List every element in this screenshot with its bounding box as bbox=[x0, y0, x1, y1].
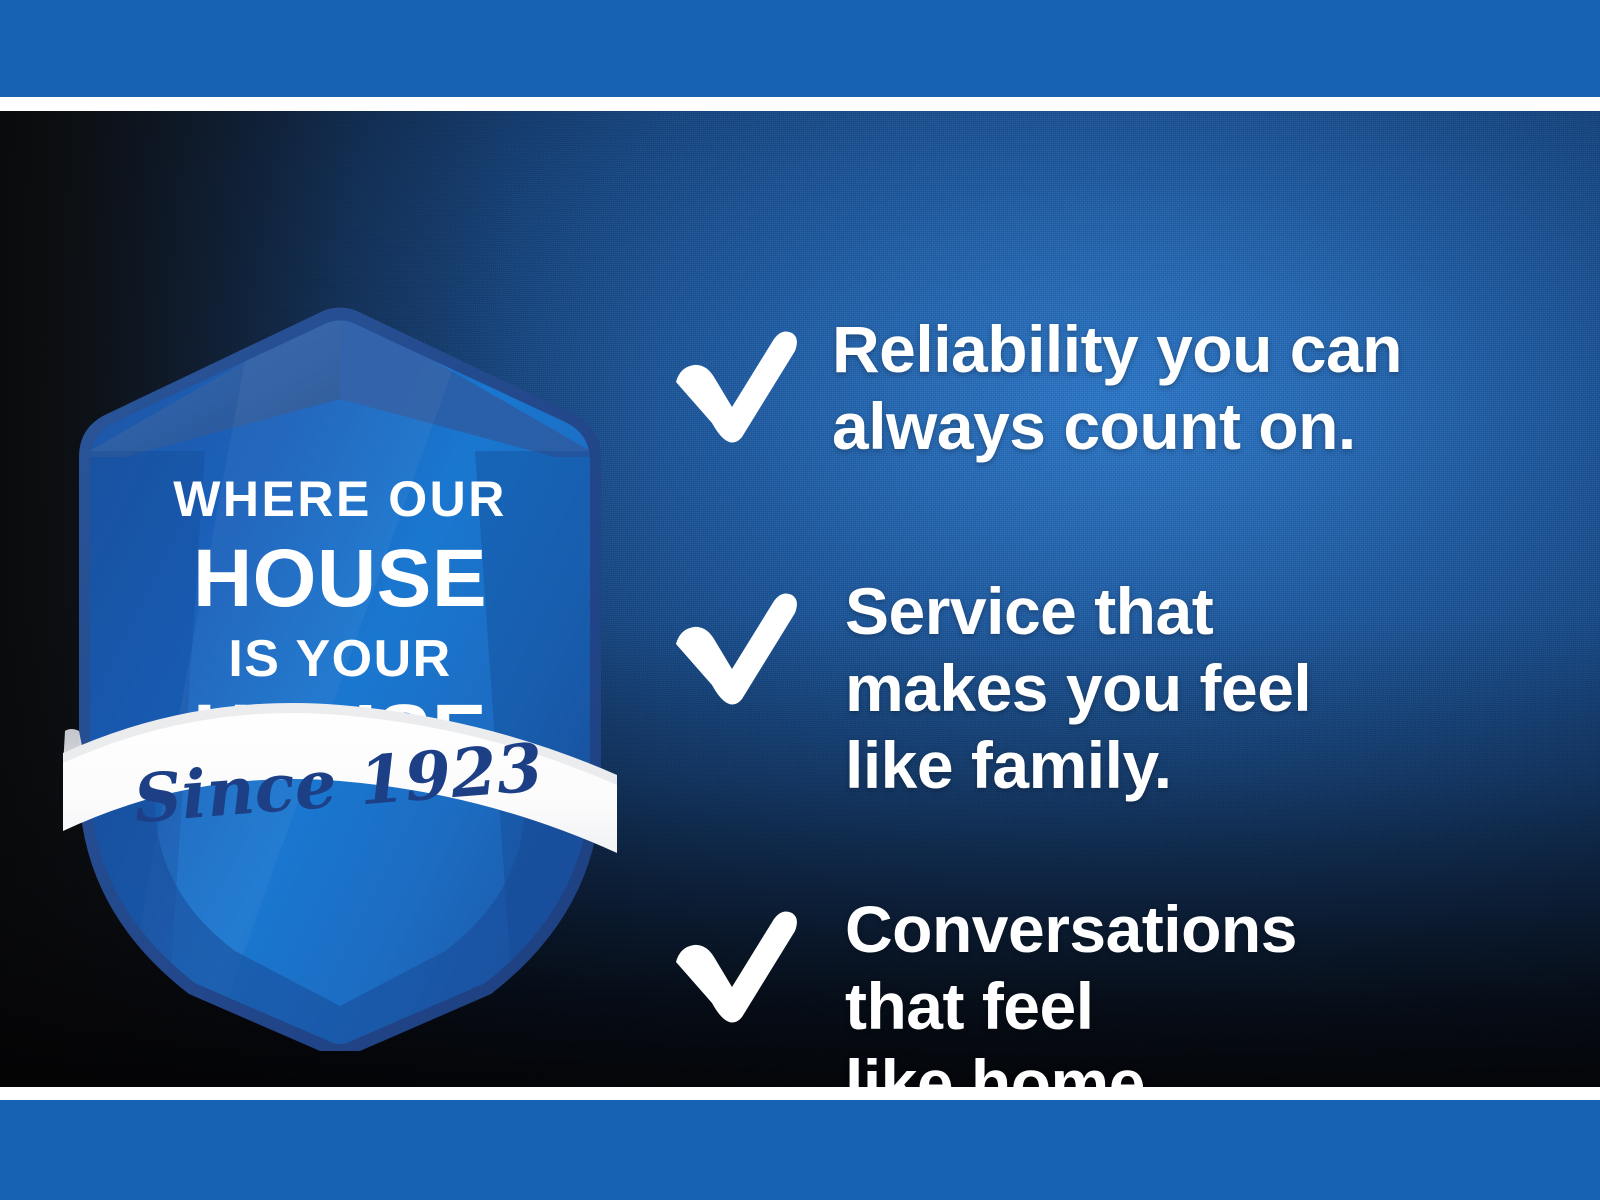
shield-logo: WHERE OUR HOUSE IS YOUR HOUSE Since 1923 bbox=[55, 261, 625, 1051]
checkmark-icon bbox=[670, 327, 800, 445]
list-item: Reliability you can always count on. bbox=[670, 311, 1402, 465]
list-item-text: Service that makes you feel like family. bbox=[845, 573, 1311, 805]
promo-graphic-canvas: WHERE OUR HOUSE IS YOUR HOUSE Since 1923 bbox=[0, 0, 1600, 1200]
main-stage: WHERE OUR HOUSE IS YOUR HOUSE Since 1923 bbox=[0, 111, 1600, 1087]
top-brand-bar bbox=[0, 0, 1600, 97]
list-item: Service that makes you feel like family. bbox=[670, 573, 1311, 805]
top-white-divider bbox=[0, 97, 1600, 111]
logo-line-1: HOUSE bbox=[193, 533, 487, 624]
bottom-brand-bar bbox=[0, 1100, 1600, 1200]
logo-line-0: WHERE OUR bbox=[173, 471, 507, 527]
checkmark-icon bbox=[670, 907, 800, 1025]
list-item: Conversations that feel like home. bbox=[670, 891, 1297, 1087]
list-item-text: Reliability you can always count on. bbox=[832, 311, 1402, 465]
bottom-white-divider bbox=[0, 1087, 1600, 1100]
list-item-text: Conversations that feel like home. bbox=[845, 891, 1297, 1087]
logo-line-2: IS YOUR bbox=[228, 630, 451, 688]
checkmark-icon bbox=[670, 589, 800, 707]
